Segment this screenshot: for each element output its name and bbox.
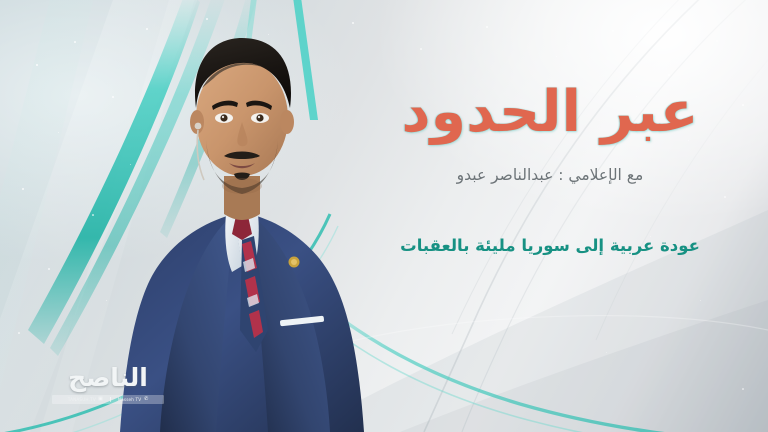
title-text-block: عبر الحدود مع الإعلامي : عبدالناصر عبدو … <box>370 82 730 255</box>
channel-logo-wordmark: الناصح <box>52 365 164 390</box>
channel-social-bar: ✆ Nasseh TV ▣ TANASUH.TV <box>52 395 164 404</box>
presenter-credit: مع الإعلامي : عبدالناصر عبدو <box>370 166 730 184</box>
channel-logo: الناصح ✆ Nasseh TV ▣ TANASUH.TV <box>52 365 164 404</box>
phone-icon: ✆ <box>143 397 148 402</box>
social-handle-text: TANASUH.TV <box>68 397 96 402</box>
broadcast-title-card: عبر الحدود مع الإعلامي : عبدالناصر عبدو … <box>0 0 768 432</box>
social-handle-text: Nasseh TV <box>118 397 141 402</box>
social-handle-phone: ✆ Nasseh TV <box>118 397 148 402</box>
camera-icon: ▣ <box>98 397 103 402</box>
social-handle-camera: ▣ TANASUH.TV <box>68 397 103 402</box>
episode-headline: عودة عربية إلى سوريا مليئة بالعقبات <box>370 236 730 255</box>
program-title: عبر الحدود <box>370 82 730 144</box>
social-separator <box>110 397 111 402</box>
